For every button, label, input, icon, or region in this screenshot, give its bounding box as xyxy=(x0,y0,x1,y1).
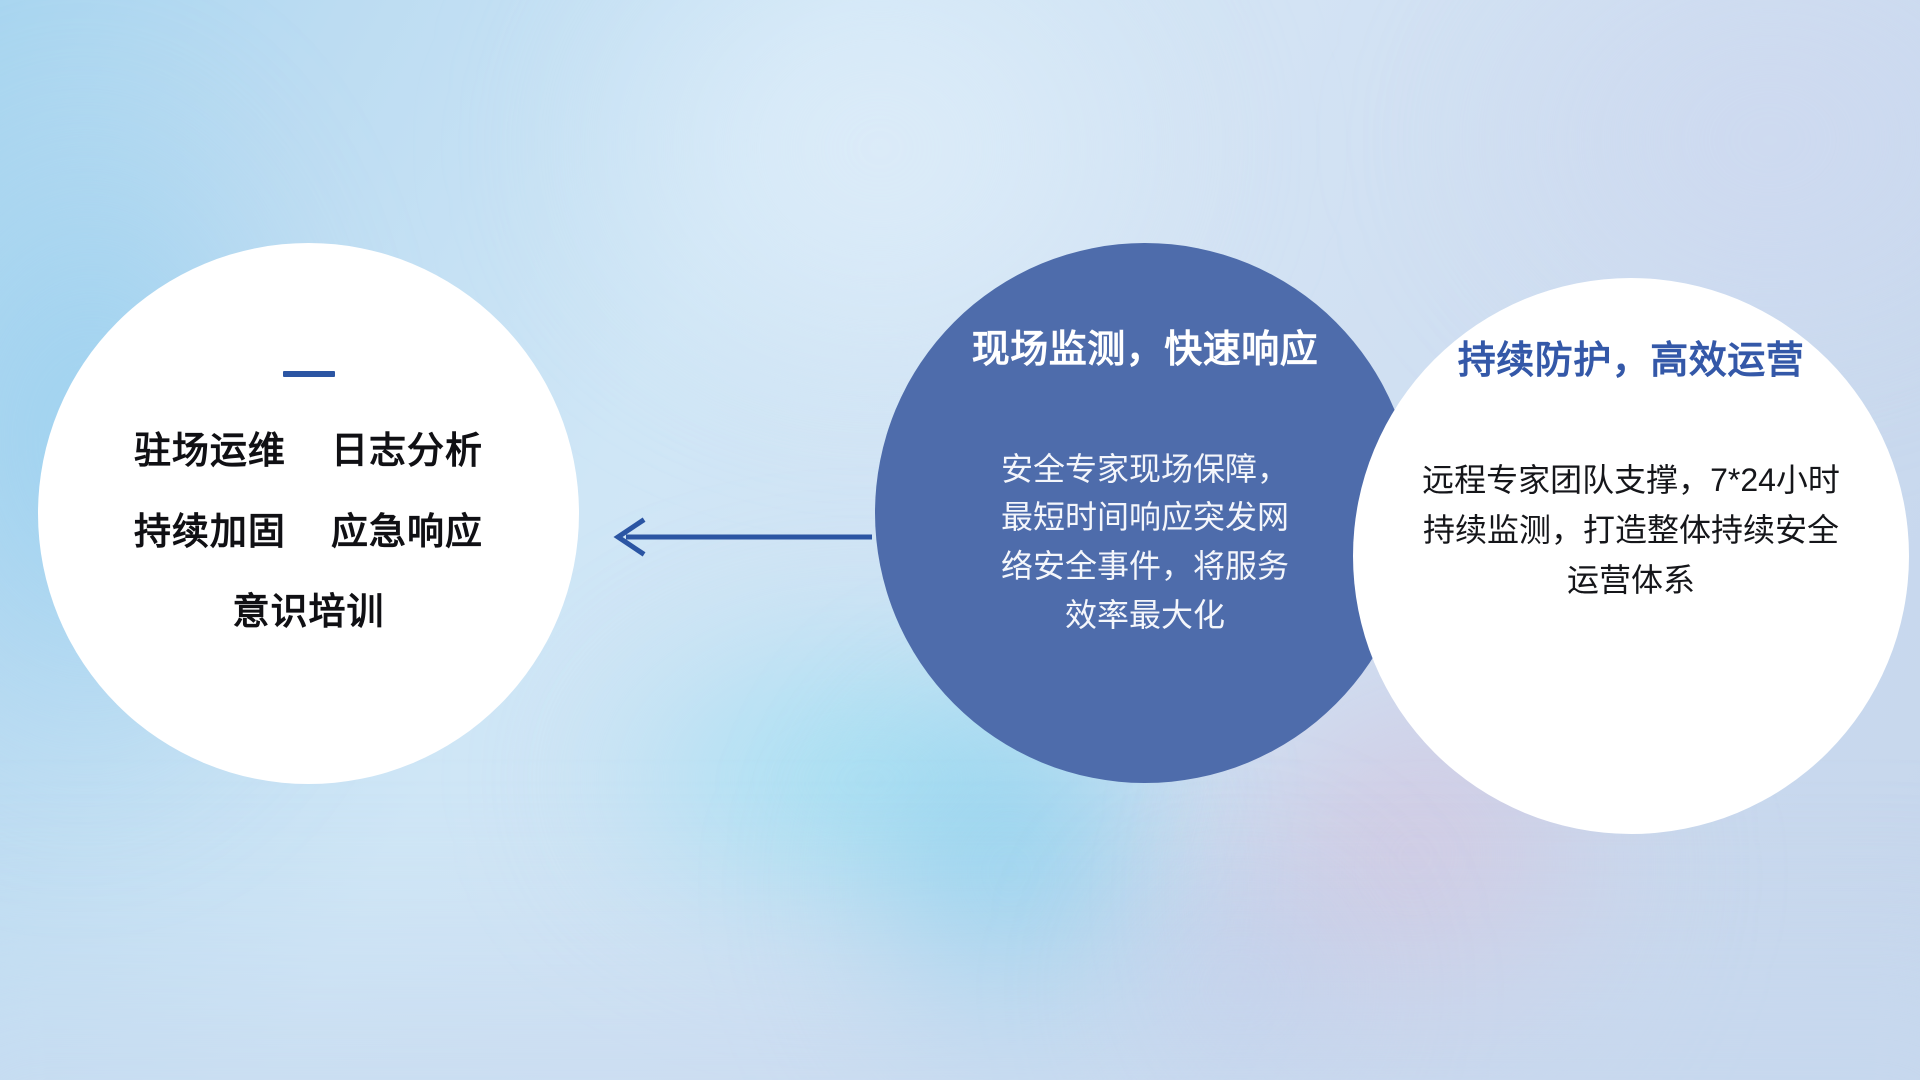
left-keyword-line: 意识培训 xyxy=(38,592,579,633)
left-keyword-circle: 驻场运维 日志分析 持续加固 应急响应 意识培训 xyxy=(38,243,579,784)
connector-arrow xyxy=(596,515,872,559)
arrow-left-icon xyxy=(596,515,872,559)
left-circle-content: 驻场运维 日志分析 持续加固 应急响应 意识培训 xyxy=(38,371,579,633)
background-glow-bottom xyxy=(0,860,1920,1080)
right-circle-body: 远程专家团队支撑，7*24小时持续监测，打造整体持续安全运营体系 xyxy=(1416,456,1846,606)
right-circle-title: 持续防护，高效运营 xyxy=(1379,340,1883,384)
horizontal-dash-icon xyxy=(283,371,335,377)
background-glow-lilac xyxy=(1090,840,1390,1080)
middle-circle-content: 现场监测，快速响应 安全专家现场保障，最短时间响应突发网络安全事件，将服务效率最… xyxy=(875,329,1415,639)
left-keyword-line: 驻场运维 日志分析 xyxy=(38,431,579,472)
left-keyword-line: 持续加固 应急响应 xyxy=(38,512,579,553)
middle-circle-body: 安全专家现场保障，最短时间响应突发网络安全事件，将服务效率最大化 xyxy=(986,445,1304,640)
middle-circle-title: 现场监测，快速响应 xyxy=(893,329,1397,373)
right-circle-content: 持续防护，高效运营 远程专家团队支撑，7*24小时持续监测，打造整体持续安全运营… xyxy=(1353,340,1909,605)
right-operations-circle: 持续防护，高效运营 远程专家团队支撑，7*24小时持续监测，打造整体持续安全运营… xyxy=(1353,278,1909,834)
slide-canvas: 驻场运维 日志分析 持续加固 应急响应 意识培训 现场监测，快速响应 安全专家现… xyxy=(0,0,1920,1080)
middle-onsite-circle: 现场监测，快速响应 安全专家现场保障，最短时间响应突发网络安全事件，将服务效率最… xyxy=(875,243,1415,783)
